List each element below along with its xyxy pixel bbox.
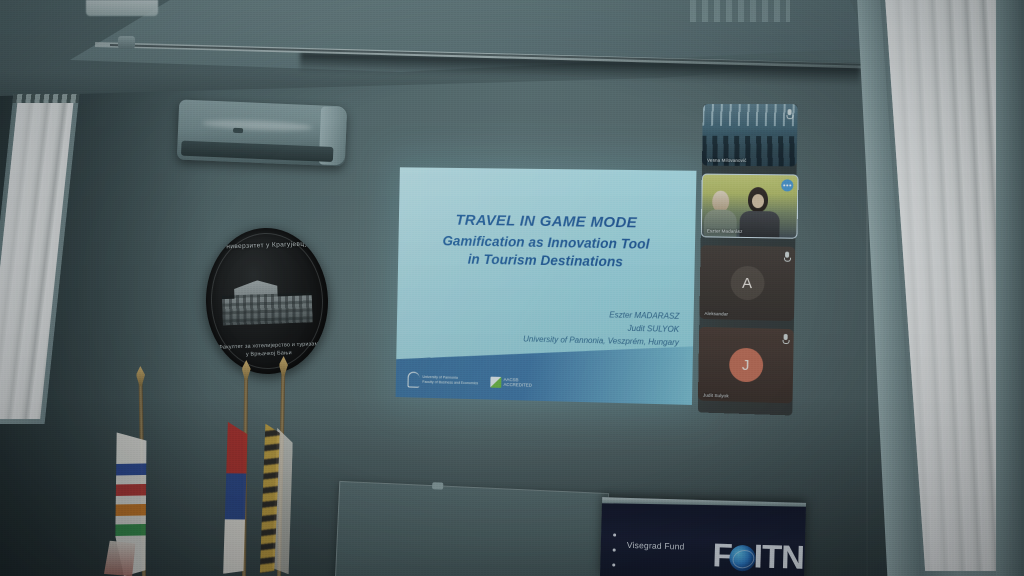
blind-rail[interactable] [12, 94, 79, 103]
mic-muted-icon [783, 334, 789, 343]
banner-sponsor-label: Visegrad Fund [627, 540, 685, 552]
video-call-participant-sidebar: Vesna Milovanović Eszter Madarász A Alek… [698, 104, 798, 416]
whiteboard-panel [335, 481, 609, 576]
pannonia-logo-text: University of Pannonia Faculty of Busine… [422, 375, 478, 386]
flag-gold-black [258, 372, 304, 576]
slide-author-block: Eszter MADARASZ Judit SULYOK University … [463, 305, 679, 349]
mic-muted-icon [786, 109, 792, 118]
more-options-icon[interactable] [781, 179, 793, 191]
video-tile-participant-3[interactable]: A Aleksandar [699, 245, 795, 321]
aacsb-logo-line2: ACCREDITED [503, 382, 531, 388]
projected-slide: TRAVEL IN GAME MODE Gamification as Inno… [396, 167, 697, 405]
banner-logo: F ITN [712, 538, 804, 574]
slide-logo-row: University of Pannonia Faculty of Busine… [407, 372, 532, 391]
mic-muted-icon [784, 252, 790, 261]
ceiling-sensor [118, 36, 135, 49]
aacsb-mark-icon [490, 376, 501, 387]
avatar: A [730, 266, 764, 301]
flag-cloth [220, 422, 248, 574]
whiteboard-clip [432, 482, 443, 489]
participant-name-label: Judit Sulyok [703, 393, 729, 399]
ac-display-panel [233, 128, 243, 133]
video-tile-participant-1[interactable]: Vesna Milovanović [702, 104, 798, 167]
avatar: J [728, 348, 762, 383]
flag-striped-multicolor [115, 382, 170, 576]
pannonia-p-mark [407, 372, 419, 388]
pannonia-logo: University of Pannonia Faculty of Busine… [407, 372, 478, 390]
tile-room-ceiling-detail [703, 104, 798, 126]
globe-icon [729, 544, 756, 571]
ceiling-vent-grille [690, 0, 790, 22]
slide-surface: TRAVEL IN GAME MODE Gamification as Inno… [396, 167, 697, 405]
air-conditioner-unit [177, 100, 347, 167]
slide-title: TRAVEL IN GAME MODE [399, 211, 696, 232]
aacsb-logo-text: AACSB ACCREDITED [503, 376, 532, 388]
rollup-banner: Visegrad Fund F ITN [600, 497, 806, 576]
participant-name-label: Vesna Milovanović [707, 158, 747, 163]
slide-subtitle-line2: in Tourism Destinations [398, 250, 695, 270]
participant-name-label: Eszter Madarász [707, 228, 743, 234]
ceiling-light [86, 0, 158, 16]
banner-bullet-dots [612, 533, 616, 576]
participant-name-label: Aleksandar [704, 311, 728, 317]
pannonia-logo-line2: Faculty of Business and Economics [422, 380, 478, 386]
video-tile-participant-4[interactable]: J Judit Sulyok [698, 327, 794, 404]
video-tile-participant-2[interactable]: Eszter Madarász [701, 174, 799, 239]
banner-logo-letters-itn: ITN [753, 539, 804, 573]
slide-subtitle-line1: Gamification as Innovation Tool [398, 233, 695, 253]
aacsb-logo: AACSB ACCREDITED [490, 376, 532, 388]
building-windows-detail [222, 292, 313, 325]
presenter-b-body [739, 211, 779, 239]
conference-room-scene: Универзитет у Крагујевцу Факултет за хот… [0, 0, 1024, 576]
window-outer-jamb [996, 0, 1024, 576]
